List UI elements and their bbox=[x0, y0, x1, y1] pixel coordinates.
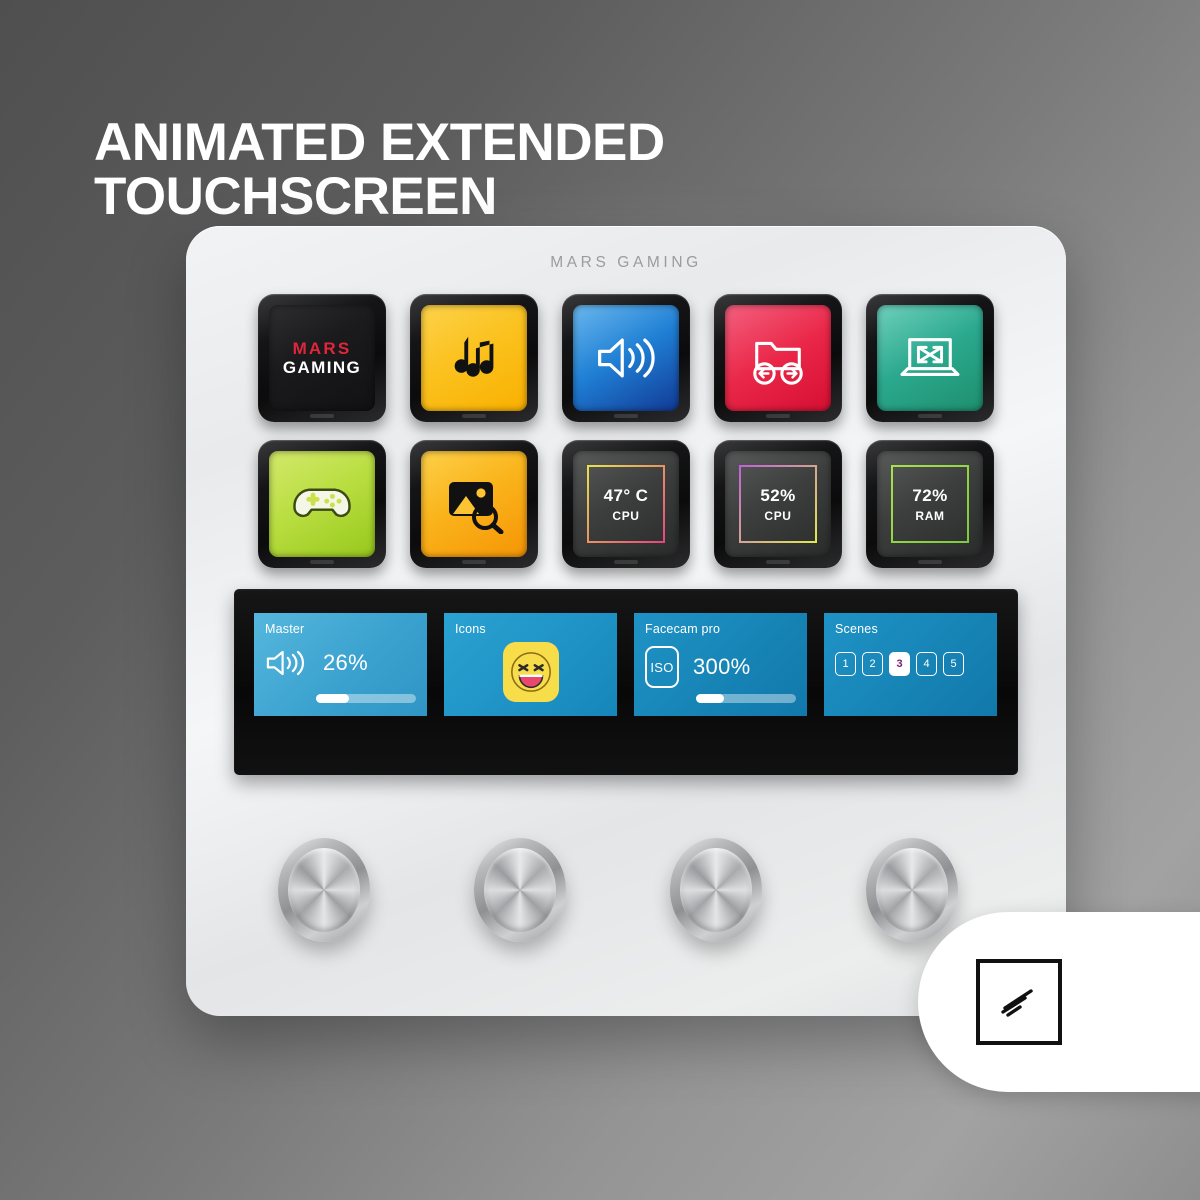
panel-title: Master bbox=[265, 622, 416, 636]
key-image-search[interactable] bbox=[410, 440, 538, 568]
panel-title: Scenes bbox=[835, 622, 986, 636]
stat-value: 47° C bbox=[604, 486, 649, 506]
headline-line-1: ANIMATED EXTENDED bbox=[94, 113, 665, 172]
scene-buttons-icon: 1 2 3 4 5 bbox=[835, 652, 986, 676]
iso-slider[interactable] bbox=[696, 694, 796, 703]
key-cpu-temp[interactable]: 47° C CPU bbox=[562, 440, 690, 568]
mars-word: MARS bbox=[283, 339, 361, 358]
knob-4[interactable] bbox=[866, 838, 958, 942]
key-grid: MARS GAMING bbox=[258, 294, 994, 568]
stat-value: 52% bbox=[760, 486, 795, 506]
scene-button-3[interactable]: 3 bbox=[889, 652, 910, 676]
key-screen-expand[interactable] bbox=[866, 294, 994, 422]
marketing-banner: ANIMATED EXTENDED TOUCHSCREEN MARS GAMIN… bbox=[0, 0, 1200, 1200]
key-screen: 47° C CPU bbox=[573, 451, 679, 557]
key-screen: 52% CPU bbox=[725, 451, 831, 557]
stream-deck-device: MARS GAMING MARS GAMING bbox=[186, 226, 1066, 1016]
key-ram-usage[interactable]: 72% RAM bbox=[866, 440, 994, 568]
key-screen bbox=[269, 451, 375, 557]
laptop-expand-icon bbox=[897, 330, 963, 386]
stat-frame-icon: 72% RAM bbox=[891, 465, 969, 543]
scene-button-1[interactable]: 1 bbox=[835, 652, 856, 676]
key-screen bbox=[421, 305, 527, 411]
touchscreen-panels: Master 26% Icons bbox=[254, 613, 998, 716]
key-mars-logo[interactable]: MARS GAMING bbox=[258, 294, 386, 422]
panel-scenes[interactable]: Scenes 1 2 3 4 5 bbox=[824, 613, 997, 716]
knob-1[interactable] bbox=[278, 838, 370, 942]
speaker-waves-icon bbox=[265, 646, 309, 680]
iso-badge-icon: ISO bbox=[645, 646, 679, 688]
gamepad-icon bbox=[286, 477, 358, 531]
stat-unit: CPU bbox=[764, 509, 791, 523]
emoji-face bbox=[508, 649, 554, 695]
knob-3[interactable] bbox=[670, 838, 762, 942]
mars-gaming-logo-icon: MARS GAMING bbox=[283, 339, 361, 377]
headline-line-2: TOUCHSCREEN bbox=[94, 170, 854, 224]
scene-button-2[interactable]: 2 bbox=[862, 652, 883, 676]
key-screen bbox=[725, 305, 831, 411]
panel-icons[interactable]: Icons bbox=[444, 613, 617, 716]
key-volume[interactable] bbox=[562, 294, 690, 422]
panel-body: 26% bbox=[265, 646, 416, 680]
knob-row bbox=[278, 838, 978, 942]
key-file-transfer[interactable] bbox=[714, 294, 842, 422]
scene-button-5[interactable]: 5 bbox=[943, 652, 964, 676]
stat-frame-icon: 52% CPU bbox=[739, 465, 817, 543]
panel-value: 300% bbox=[693, 654, 750, 680]
panel-value: 26% bbox=[323, 650, 368, 676]
brand-label: MARS GAMING bbox=[186, 254, 1066, 272]
stat-unit: CPU bbox=[612, 509, 639, 523]
folder-transfer-icon bbox=[745, 328, 811, 388]
music-notes-icon bbox=[443, 327, 505, 389]
panel-facecam-pro[interactable]: Facecam pro ISO 300% bbox=[634, 613, 807, 716]
corner-badge bbox=[918, 912, 1200, 1092]
stat-frame-icon: 47° C CPU bbox=[587, 465, 665, 543]
scene-button-4[interactable]: 4 bbox=[916, 652, 937, 676]
panel-master[interactable]: Master 26% bbox=[254, 613, 427, 716]
stat-unit: RAM bbox=[915, 509, 944, 523]
key-screen: 72% RAM bbox=[877, 451, 983, 557]
gaming-word: GAMING bbox=[283, 358, 361, 377]
page-title: ANIMATED EXTENDED TOUCHSCREEN bbox=[94, 116, 854, 224]
knob-2[interactable] bbox=[474, 838, 566, 942]
image-search-icon bbox=[441, 474, 507, 534]
key-music[interactable] bbox=[410, 294, 538, 422]
key-cpu-load[interactable]: 52% CPU bbox=[714, 440, 842, 568]
key-screen bbox=[421, 451, 527, 557]
key-game[interactable] bbox=[258, 440, 386, 568]
diagonal-strokes bbox=[991, 974, 1047, 1030]
panel-title: Icons bbox=[455, 622, 606, 636]
extended-touchscreen[interactable]: Master 26% Icons bbox=[234, 589, 1018, 775]
key-screen bbox=[573, 305, 679, 411]
diagonal-lines-mark-icon bbox=[976, 959, 1062, 1045]
key-screen bbox=[877, 305, 983, 411]
panel-title: Facecam pro bbox=[645, 622, 796, 636]
iso-label: ISO bbox=[650, 660, 673, 675]
panel-body: ISO 300% bbox=[645, 646, 796, 688]
volume-slider[interactable] bbox=[316, 694, 416, 703]
key-screen: MARS GAMING bbox=[269, 305, 375, 411]
laughing-emoji-icon bbox=[503, 642, 559, 702]
speaker-waves-icon bbox=[594, 330, 658, 386]
stat-value: 72% bbox=[912, 486, 947, 506]
